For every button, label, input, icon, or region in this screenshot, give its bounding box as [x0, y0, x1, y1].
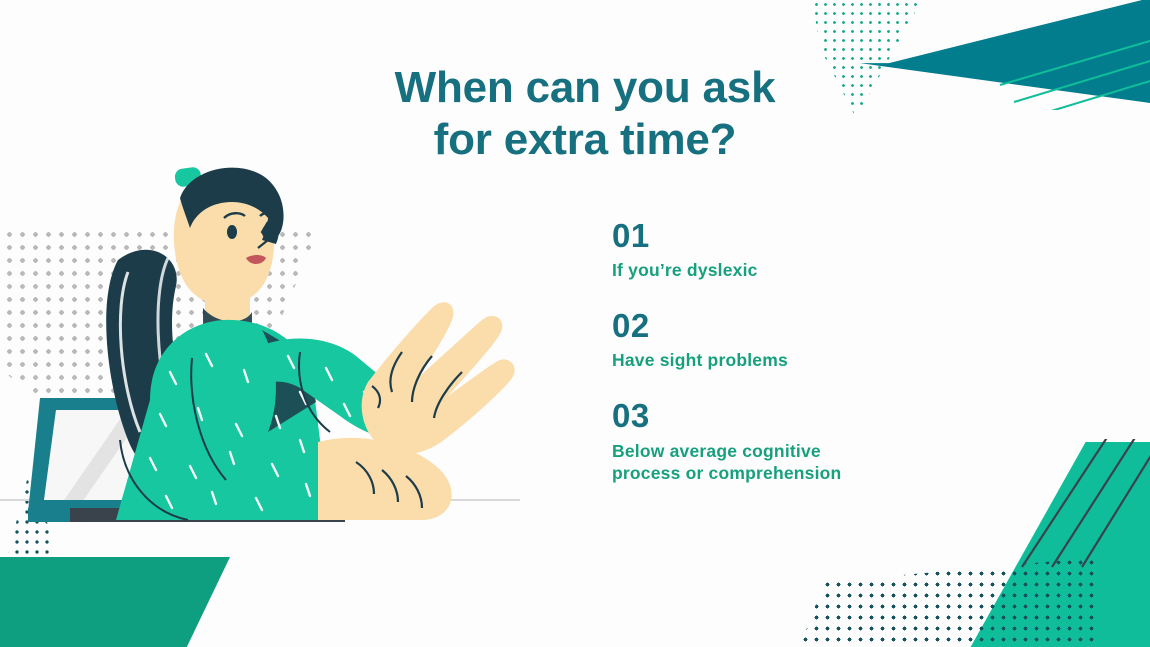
top-right-diagonal-lines-decoration	[980, 30, 1150, 110]
presentation-slide: When can you ask for extra time? 01 If y…	[0, 0, 1150, 647]
forearm	[318, 438, 452, 520]
woman-raising-hand-illustration	[0, 140, 540, 540]
list-item-label: Below average cognitive process or compr…	[612, 441, 1032, 485]
title-line-1: When can you ask	[275, 62, 895, 114]
list-item-label: Have sight problems	[612, 350, 1032, 372]
list-item-label-line-1: Below average cognitive	[612, 441, 821, 461]
page-title: When can you ask for extra time?	[275, 62, 895, 166]
eye	[227, 225, 237, 239]
top-right-teal-triangle-decoration	[860, 0, 1150, 103]
list-item: 01 If you’re dyslexic	[612, 218, 1032, 282]
list-item-number: 03	[612, 398, 1032, 434]
title-line-2: for extra time?	[275, 114, 895, 166]
bottom-left-green-wedge-decoration	[0, 557, 230, 647]
list-item: 02 Have sight problems	[612, 308, 1032, 372]
list-item-label-line-2: process or comprehension	[612, 463, 1032, 485]
list-item: 03 Below average cognitive process or co…	[612, 398, 1032, 484]
numbered-list: 01 If you’re dyslexic 02 Have sight prob…	[612, 218, 1032, 484]
list-item-number: 01	[612, 218, 1032, 254]
desk-bar-teal	[28, 508, 70, 522]
list-item-label-line-1: Have sight problems	[612, 350, 788, 370]
raised-hand	[362, 302, 515, 454]
list-item-number: 02	[612, 308, 1032, 344]
list-item-label: If you’re dyslexic	[612, 260, 1032, 282]
bottom-right-dot-triangle-decoration	[800, 557, 1100, 647]
eye-2	[262, 226, 270, 238]
list-item-label-line-1: If you’re dyslexic	[612, 260, 758, 280]
